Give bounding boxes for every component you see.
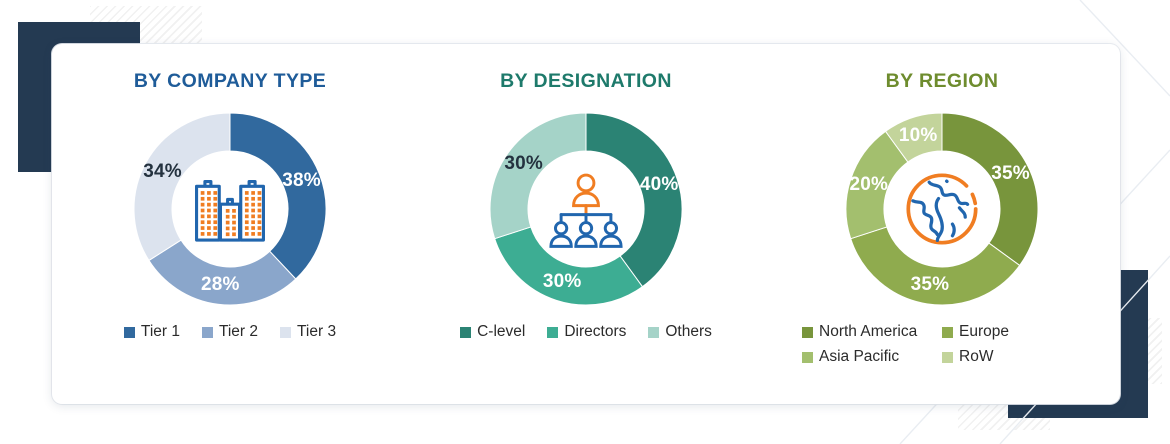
legend-label-company-type-1: Tier 2 [219, 323, 258, 341]
legend-item-company-type-0[interactable]: Tier 1 [124, 323, 180, 341]
legend-region: North AmericaEuropeAsia PacificRoW [801, 323, 1083, 366]
donut-chart-designation: 40%30%30% [482, 105, 690, 313]
legend-label-region-3: RoW [959, 348, 993, 366]
infographic-stage: BY COMPANY TYPE38%28%34% Tier 1Tier 2Tie… [0, 0, 1170, 444]
panel-title-company-type: BY COMPANY TYPE [134, 70, 326, 93]
charts-card: BY COMPANY TYPE38%28%34% Tier 1Tier 2Tie… [52, 44, 1120, 404]
legend-swatch-icon-designation-1 [547, 327, 558, 338]
buildings-icon [187, 166, 273, 252]
panel-region: BY REGION35%35%20%10% North AmericaEurop… [764, 44, 1120, 404]
legend-swatch-icon-region-0 [802, 327, 813, 338]
legend-item-region-3[interactable]: RoW [942, 348, 1082, 366]
legend-company-type: Tier 1Tier 2Tier 3 [124, 323, 336, 341]
legend-swatch-icon-designation-0 [460, 327, 471, 338]
legend-label-designation-0: C-level [477, 323, 525, 341]
slice-value-label-designation-0: 40% [640, 174, 679, 196]
legend-label-designation-1: Directors [564, 323, 626, 341]
panel-company-type: BY COMPANY TYPE38%28%34% Tier 1Tier 2Tie… [52, 44, 408, 404]
panels-container: BY COMPANY TYPE38%28%34% Tier 1Tier 2Tie… [52, 44, 1120, 404]
legend-swatch-icon-region-2 [802, 352, 813, 363]
legend-label-region-0: North America [819, 323, 917, 341]
legend-item-designation-0[interactable]: C-level [460, 323, 525, 341]
legend-item-region-0[interactable]: North America [802, 323, 942, 341]
legend-item-company-type-1[interactable]: Tier 2 [202, 323, 258, 341]
globe-icon [899, 166, 985, 252]
panel-title-region: BY REGION [886, 70, 999, 93]
legend-swatch-icon-company-type-1 [202, 327, 213, 338]
legend-label-company-type-0: Tier 1 [141, 323, 180, 341]
legend-item-designation-2[interactable]: Others [648, 323, 712, 341]
legend-designation: C-levelDirectorsOthers [460, 323, 712, 341]
legend-item-region-1[interactable]: Europe [942, 323, 1082, 341]
legend-swatch-icon-designation-2 [648, 327, 659, 338]
slice-value-label-region-0: 35% [991, 163, 1030, 185]
slice-value-label-region-2: 20% [849, 174, 888, 196]
legend-label-region-2: Asia Pacific [819, 348, 899, 366]
slice-value-label-designation-2: 30% [504, 153, 543, 175]
legend-label-region-1: Europe [959, 323, 1009, 341]
legend-swatch-icon-company-type-2 [280, 327, 291, 338]
legend-swatch-icon-region-1 [942, 327, 953, 338]
slice-value-label-company-type-0: 38% [282, 170, 321, 192]
panel-designation: BY DESIGNATION40%30%30% C-levelDirectors… [408, 44, 764, 404]
legend-swatch-icon-company-type-0 [124, 327, 135, 338]
slice-value-label-company-type-2: 34% [143, 161, 182, 183]
legend-label-company-type-2: Tier 3 [297, 323, 336, 341]
legend-label-designation-2: Others [665, 323, 712, 341]
legend-swatch-icon-region-3 [942, 352, 953, 363]
org-chart-icon-svg [543, 105, 629, 313]
legend-item-designation-1[interactable]: Directors [547, 323, 626, 341]
buildings-icon-svg [187, 105, 273, 313]
legend-item-company-type-2[interactable]: Tier 3 [280, 323, 336, 341]
donut-chart-company-type: 38%28%34% [126, 105, 334, 313]
legend-item-region-2[interactable]: Asia Pacific [802, 348, 942, 366]
panel-title-designation: BY DESIGNATION [500, 70, 672, 93]
donut-chart-region: 35%35%20%10% [838, 105, 1046, 313]
org-chart-icon [543, 166, 629, 252]
globe-icon-svg [899, 105, 985, 313]
